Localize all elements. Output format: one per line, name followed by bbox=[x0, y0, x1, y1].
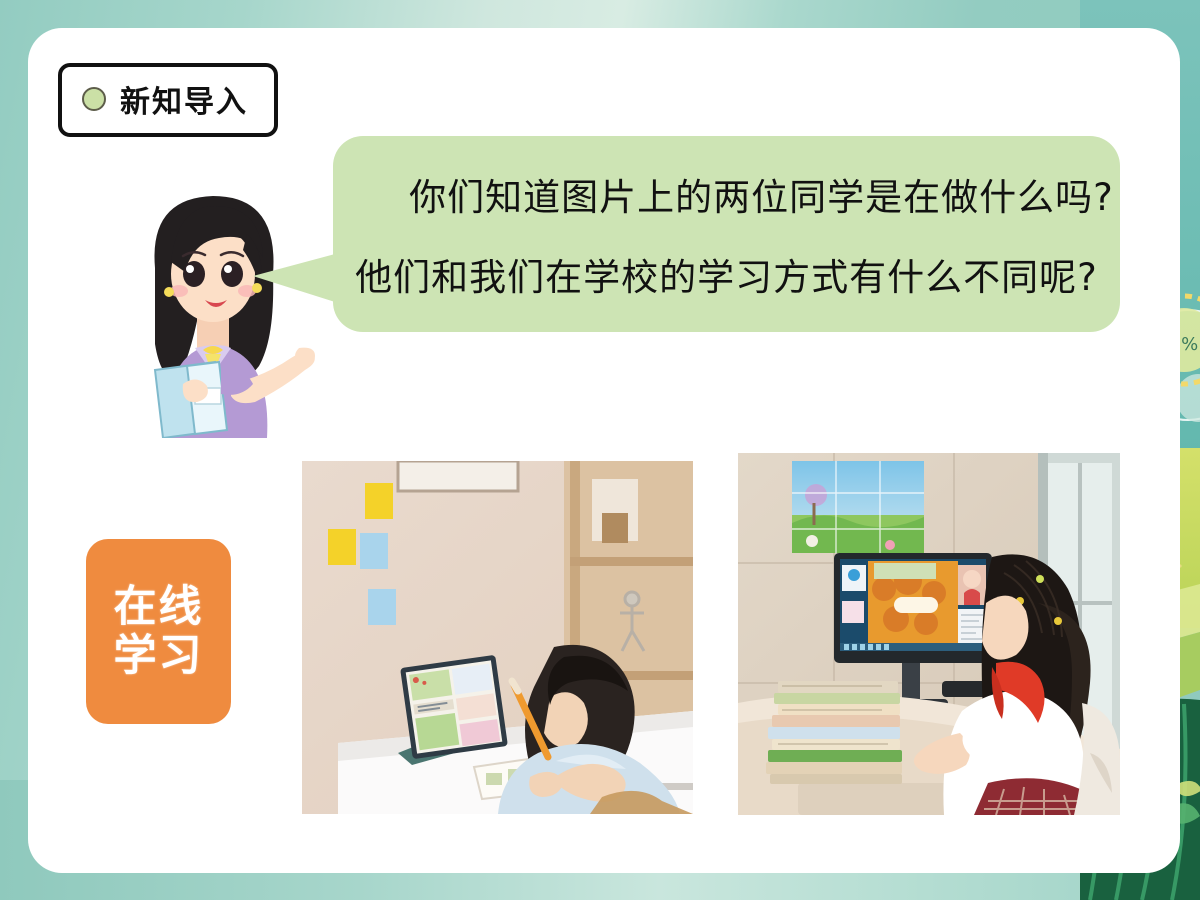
speech-bubble-line-1: 你们知道图片上的两位同学是在做什么吗? bbox=[339, 167, 1114, 221]
photo-boy-tablet bbox=[302, 461, 693, 814]
speech-bubble-line-2: 他们和我们在学校的学习方式有什么不同呢? bbox=[355, 247, 1098, 301]
category-badge-online-learning: 在线 学习 bbox=[86, 539, 231, 724]
section-title-label: 新知导入 bbox=[120, 77, 248, 121]
photo-girl-computer bbox=[738, 453, 1120, 815]
speech-bubble-tail bbox=[253, 254, 335, 302]
content-card: 新知导入 bbox=[28, 28, 1180, 873]
section-title-badge: 新知导入 bbox=[58, 63, 278, 137]
category-badge-line-2: 学习 bbox=[114, 632, 204, 680]
slide: 0% bbox=[0, 0, 1200, 900]
circle-bullet-icon bbox=[82, 87, 106, 111]
teacher-character-icon bbox=[123, 188, 338, 438]
speech-bubble: 你们知道图片上的两位同学是在做什么吗? 他们和我们在学校的学习方式有什么不同呢? bbox=[333, 136, 1120, 332]
category-badge-line-1: 在线 bbox=[114, 583, 204, 631]
